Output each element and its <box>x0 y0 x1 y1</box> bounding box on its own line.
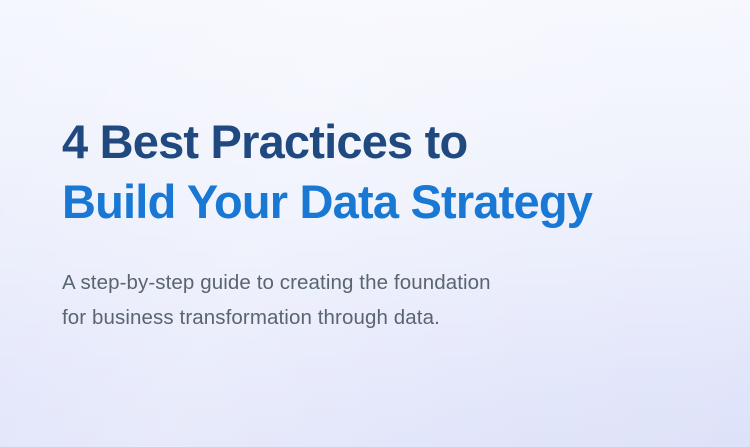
title-slide: 4 Best Practices to Build Your Data Stra… <box>0 0 750 447</box>
slide-content: 4 Best Practices to Build Your Data Stra… <box>62 112 722 335</box>
page-title: 4 Best Practices to Build Your Data Stra… <box>62 112 722 232</box>
subtitle-line-1: A step-by-step guide to creating the fou… <box>62 265 722 300</box>
subtitle-line-2: for business transformation through data… <box>62 300 722 335</box>
headline-line-1: 4 Best Practices to <box>62 115 467 168</box>
subtitle: A step-by-step guide to creating the fou… <box>62 265 722 335</box>
headline-line-2: Build Your Data Strategy <box>62 175 592 228</box>
